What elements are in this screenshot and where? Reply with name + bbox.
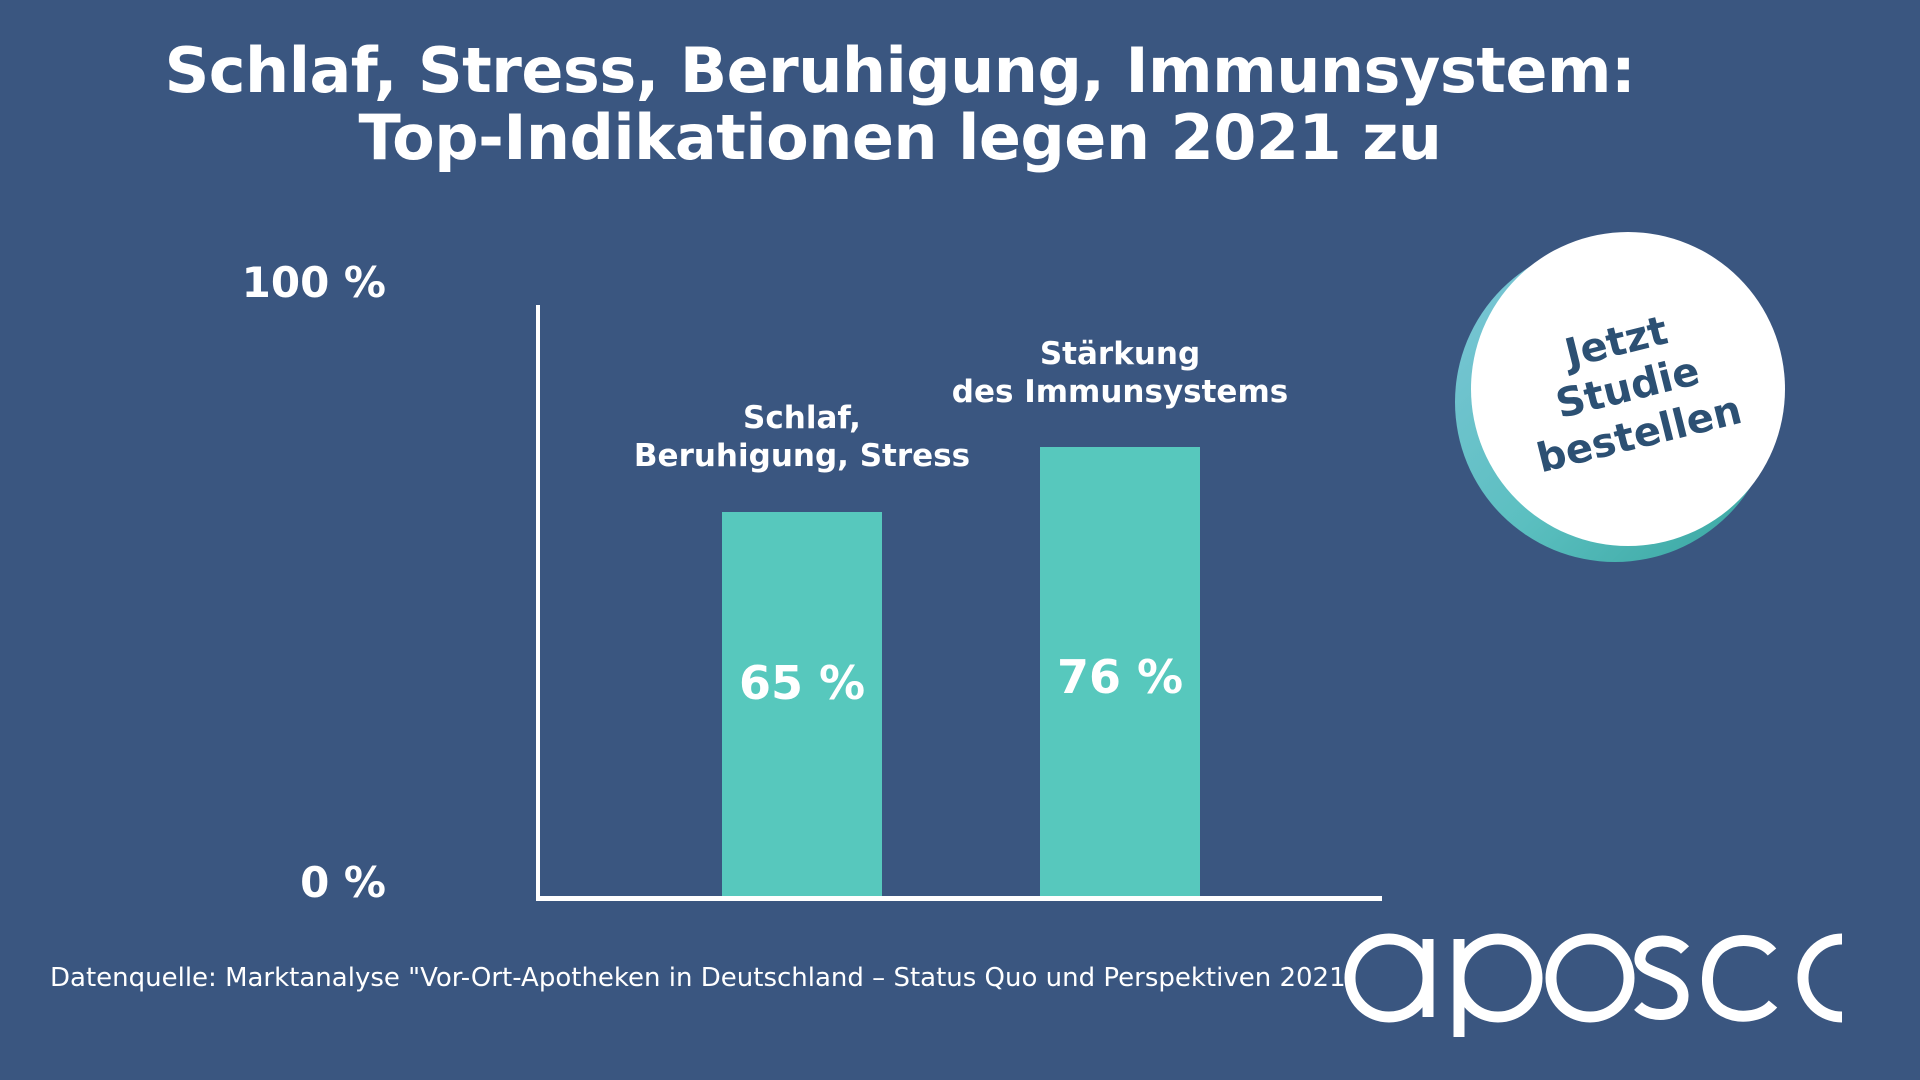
x-axis-line [536, 896, 1382, 901]
order-study-badge[interactable]: Jetzt Studie bestellen [1455, 232, 1785, 562]
infographic-canvas: Schlaf, Stress, Beruhigung, Immunsystem:… [0, 0, 1920, 1080]
y-axis-tick-100: 100 % [242, 258, 386, 307]
aposcope-wordmark [1342, 920, 1842, 1038]
bar-label-staerkung-immunsystem: Stärkung des Immunsystems [920, 336, 1320, 412]
data-source-note: Datenquelle: Marktanalyse "Vor-Ort-Apoth… [50, 963, 1358, 993]
badge-text: Jetzt Studie bestellen [1438, 199, 1819, 580]
bar-value-staerkung-immunsystem: 76 % [1040, 650, 1200, 704]
y-axis-line [536, 305, 540, 900]
y-axis-tick-0: 0 % [300, 858, 386, 907]
aposcope-logo [1342, 920, 1842, 1038]
bar-value-schlaf-beruhigung-stress: 65 % [722, 656, 882, 710]
